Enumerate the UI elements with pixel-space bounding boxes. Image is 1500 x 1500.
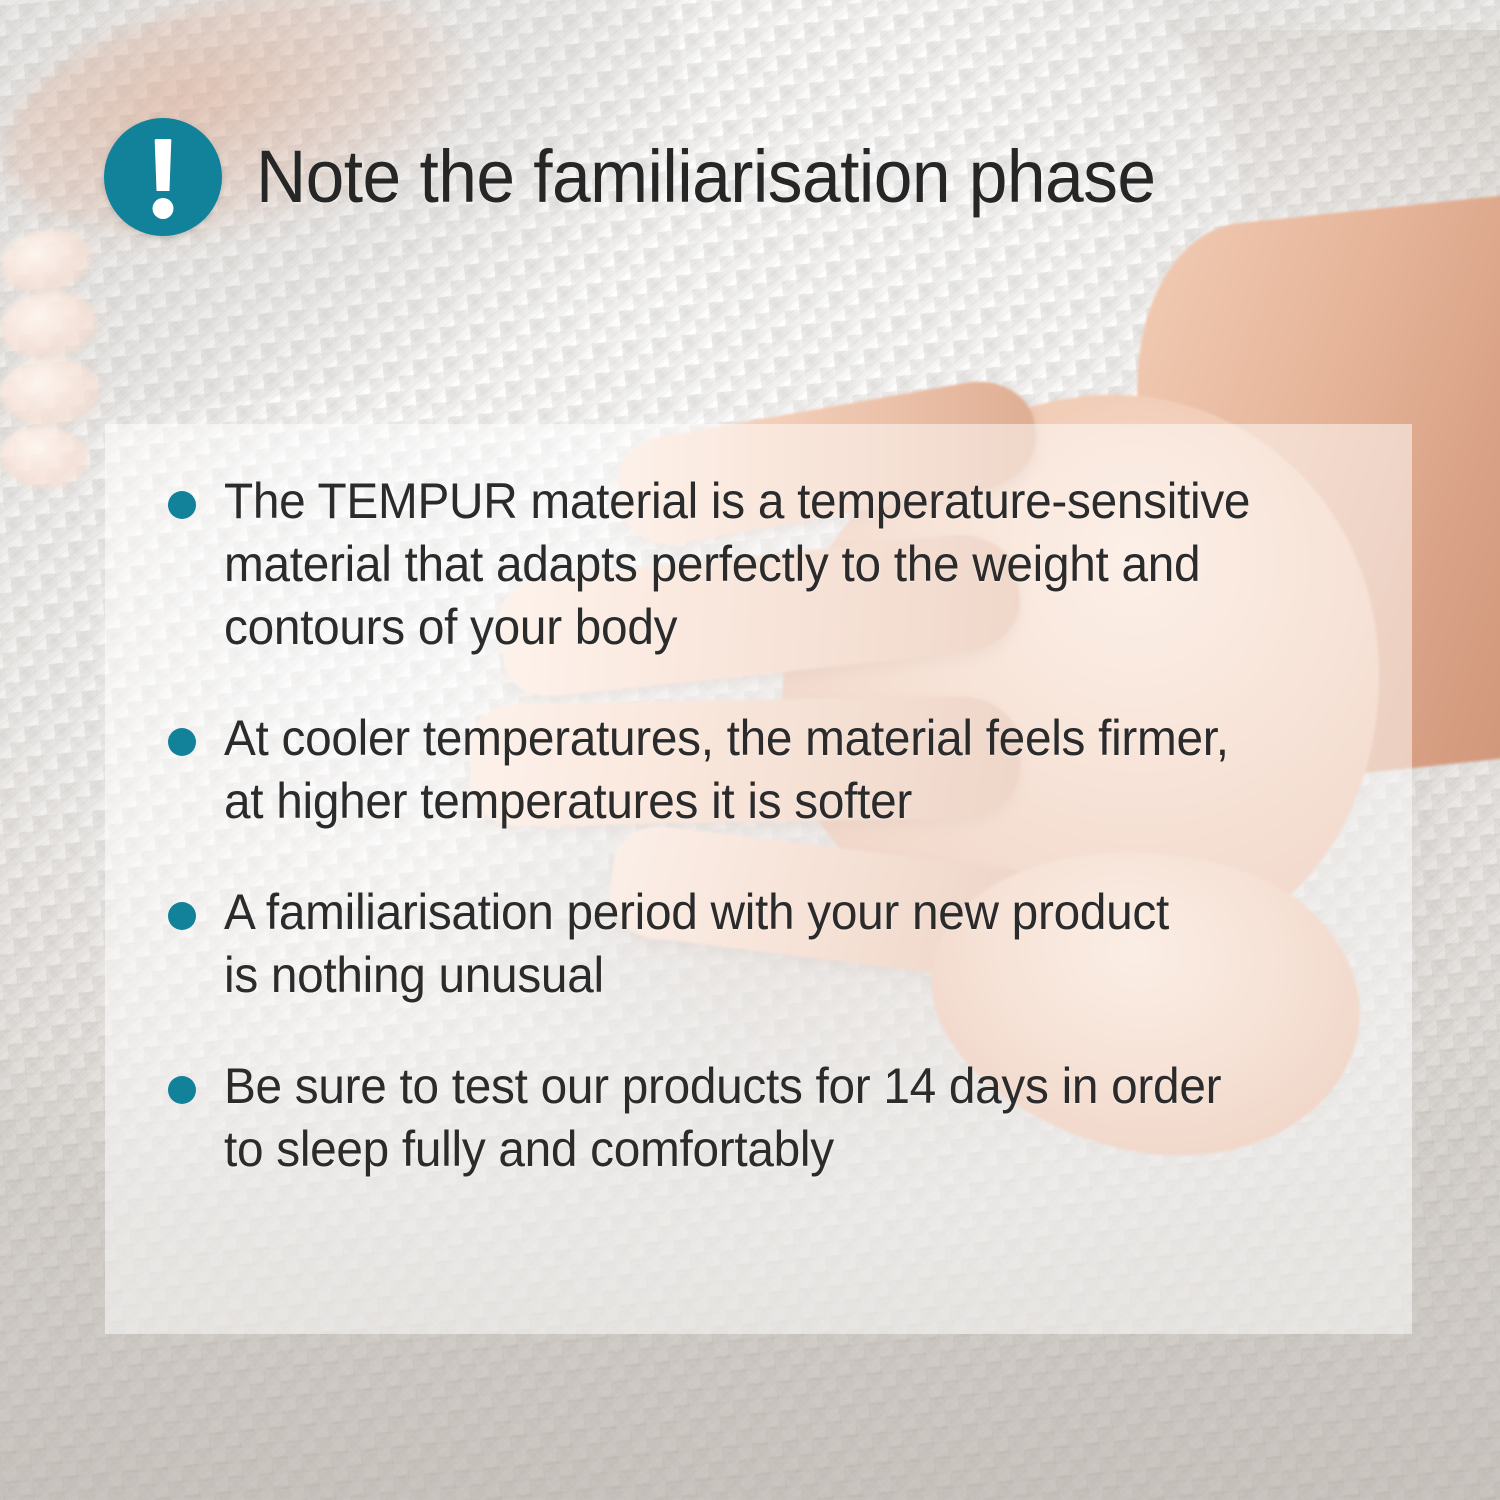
list-item-label: A familiarisation period with your new p…: [224, 881, 1179, 1007]
list-item: Be sure to test our products for 14 days…: [168, 1055, 1398, 1181]
bullet-list: The TEMPUR material is a temperature-sen…: [168, 470, 1398, 1181]
bullet-dot-icon: [168, 728, 196, 756]
list-item: At cooler temperatures, the material fee…: [168, 707, 1398, 833]
list-item-label: The TEMPUR material is a temperature-sen…: [224, 470, 1294, 659]
list-item-label: Be sure to test our products for 14 days…: [224, 1055, 1251, 1181]
bullet-dot-icon: [168, 902, 196, 930]
fingernail: [0, 221, 97, 301]
list-item: A familiarisation period with your new p…: [168, 881, 1398, 1007]
fingernail: [0, 422, 91, 491]
fingernail: [0, 286, 102, 365]
exclamation-circle-icon: [104, 118, 222, 236]
page-title: Note the familiarisation phase: [256, 139, 1155, 214]
list-item-label: At cooler temperatures, the material fee…: [224, 707, 1265, 833]
fingernail: [0, 355, 102, 428]
bullet-dot-icon: [168, 1076, 196, 1104]
exclamation-dot: [153, 198, 174, 219]
exclamation-bar: [154, 139, 173, 191]
image-canvas: Note the familiarisation phase The TEMPU…: [0, 0, 1500, 1500]
bullet-dot-icon: [168, 491, 196, 519]
list-item: The TEMPUR material is a temperature-sen…: [168, 470, 1398, 659]
header: Note the familiarisation phase: [104, 118, 1213, 236]
